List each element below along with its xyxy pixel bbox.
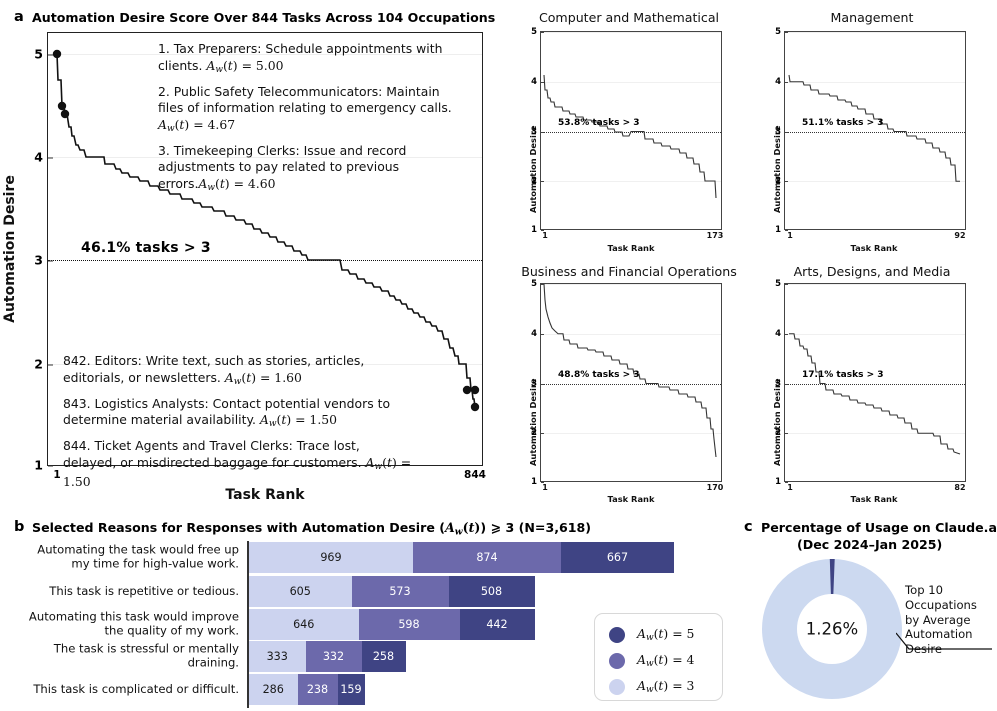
subplot-3-xtick-start: 1 [542,483,548,492]
panel-c-title-line2: (Dec 2024–Jan 2025) [797,537,942,552]
subplot-2-xtick-end: 92 [954,231,965,240]
panel-a-title: Automation Desire Score Over 844 Tasks A… [32,10,495,25]
bar-segment-a3-row1: 605 [249,576,352,607]
subplot-3-curve [541,284,722,482]
subplot-1-ytick-2: 2 [531,176,537,186]
panel-a-xtick-start: 1 [53,469,60,481]
subplot-3-ytick-5: 5 [531,279,537,289]
subplot-3-ytick-3: 3 [531,379,537,389]
bar-segment-a5-row1: 508 [449,576,535,607]
legend-swatch-icon-a4 [609,653,625,669]
subplot-4-xtick-start: 1 [787,483,793,492]
subplot-4-ytick-4: 4 [775,329,781,339]
bar-segment-a5-row4: 159 [338,674,365,705]
bar-segment-a5-row3: 258 [362,641,406,672]
subplot-4-curve [785,284,966,482]
subplot-4-xtick-end: 82 [954,483,965,492]
subplot-3-ytick-1: 1 [531,477,537,487]
subplot-title-arts-designs-and-media: Arts, Designs, and Media [794,264,951,279]
subplot-4-x-label: Task Rank [851,494,898,504]
panel-b-title: Selected Reasons for Responses with Auto… [32,520,591,537]
panel-a-top-tasks-annotation: 1. Tax Preparers: Schedule appointments … [158,41,460,202]
subplot-4-y-label: Automation Desire [772,378,782,466]
bottom-task-843: 843. Logistics Analysts: Contact potenti… [63,396,415,432]
subplot-2-x-label: Task Rank [851,243,898,253]
table-row: 605 573 508 [249,576,535,607]
bar-segment-a3-row2: 646 [249,609,359,640]
table-row: 286 238 159 [249,674,365,705]
subplot-management: 5 4 3 2 1 1 92 51.1% tasks > 3 [784,31,966,230]
panel-a-xtick-end: 844 [464,469,486,481]
panel-b-legend: Aw(t) = 5 Aw(t) = 4 Aw(t) = 3 [594,613,723,701]
subplot-2-y-label: Automation Desire [772,125,782,213]
panel-a-ytick-1: 1 [34,458,43,473]
subplot-1-ytick-5: 5 [531,27,537,37]
bar-label-4: This task is complicated or difficult. [19,682,239,696]
subplot-2-ytick-1: 1 [775,225,781,235]
subplot-1-x-label: Task Rank [608,243,655,253]
panel-c-callout-label: Top 10 Occupations by Average Automation… [905,583,991,657]
legend-label-a4: Aw(t) = 4 [637,652,694,669]
subplot-2-ytick-5: 5 [775,27,781,37]
subplot-4-ytick-5: 5 [775,279,781,289]
bottom-task-842: 842. Editors: Write text, such as storie… [63,353,415,389]
legend-label-a3: Aw(t) = 3 [637,678,694,695]
panel-c-donut-chart: 1.26% [762,559,902,699]
bar-label-1: This task is repetitive or tedious. [19,584,239,598]
subplot-1-ytick-4: 4 [531,77,537,87]
table-row: 969 874 667 [249,542,674,573]
subplot-4-threshold-label: 17.1% tasks > 3 [802,370,884,380]
subplot-3-y-label: Automation Desire [528,378,538,466]
subplot-computer-and-mathematical: 5 4 3 2 1 1 173 53.8% tasks > 3 [540,31,722,230]
panel-a-ytick-5: 5 [34,47,43,62]
panel-c-letter: c [744,519,753,535]
bar-segment-a4-row1: 573 [352,576,449,607]
subplot-1-ytick-1: 1 [531,225,537,235]
top-task-3: 3. Timekeeping Clerks: Issue and record … [158,143,460,195]
bar-segment-a4-row2: 598 [359,609,460,640]
legend-item-a5: Aw(t) = 5 [595,622,722,648]
subplot-3-ytick-2: 2 [531,428,537,438]
subplot-title-management: Management [831,10,914,25]
subplot-1-curve [541,32,722,230]
subplot-3-threshold-label: 48.8% tasks > 3 [558,370,640,380]
bar-label-3: The task is stressful or mentally draini… [19,642,239,671]
panel-a-letter: a [14,9,24,25]
subplot-3-ytick-4: 4 [531,329,537,339]
subplot-2-ytick-2: 2 [775,176,781,186]
top-task-2: 2. Public Safety Telecommunicators: Main… [158,84,460,136]
legend-item-a3: Aw(t) = 3 [595,674,722,700]
subplot-2-ytick-4: 4 [775,77,781,87]
subplot-2-xtick-start: 1 [787,231,793,240]
legend-swatch-icon-a5 [609,627,625,643]
bar-segment-a4-row3: 332 [306,641,362,672]
subplot-3-x-label: Task Rank [608,494,655,504]
subplot-1-xtick-end: 173 [707,231,724,240]
panel-a-ytick-4: 4 [34,150,43,165]
bar-segment-a3-row0: 969 [249,542,413,573]
subplot-1-threshold-label: 53.8% tasks > 3 [558,118,640,128]
panel-a-bottom-tasks-annotation: 842. Editors: Write text, such as storie… [63,353,415,497]
bar-label-2: Automating this task would improve the q… [19,610,239,639]
subplot-4-ytick-3: 3 [775,379,781,389]
legend-item-a4: Aw(t) = 4 [595,648,722,674]
panel-b-letter: b [14,519,24,535]
subplot-2-threshold-label: 51.1% tasks > 3 [802,118,884,128]
table-row: 646 598 442 [249,609,535,640]
subplot-2-curve [785,32,966,230]
subplot-1-xtick-start: 1 [542,231,548,240]
legend-label-a5: Aw(t) = 5 [637,626,694,643]
bar-segment-a5-row0: 667 [561,542,674,573]
panel-a-plot-area: 5 4 3 2 1 1 844 46.1% tasks > 3 1. Tax P… [47,32,483,466]
subplot-arts-designs-and-media: 5 4 3 2 1 1 82 17.1% tasks > 3 [784,283,966,482]
panel-c-title-line1: Percentage of Usage on Claude.ai [761,520,997,535]
subplot-title-business-and-financial-operations: Business and Financial Operations [521,264,737,279]
subplot-2-ytick-3: 3 [775,127,781,137]
subplot-4-ytick-1: 1 [775,477,781,487]
bar-segment-a4-row4: 238 [298,674,338,705]
top-task-1: 1. Tax Preparers: Schedule appointments … [158,41,460,77]
panel-a-y-axis-label: Automation Desire [2,175,18,323]
subplot-title-computer-and-mathematical: Computer and Mathematical [539,10,719,25]
subplot-1-y-label: Automation Desire [528,125,538,213]
panel-a-threshold-label: 46.1% tasks > 3 [81,240,211,256]
subplot-3-xtick-end: 170 [707,483,724,492]
subplot-4-ytick-2: 2 [775,428,781,438]
subplot-1-ytick-3: 3 [531,127,537,137]
bar-label-0: Automating the task would free up my tim… [19,543,239,572]
subplot-business-and-financial-operations: 5 4 3 2 1 1 170 48.8% tasks > 3 [540,283,722,482]
bar-segment-a3-row3: 333 [249,641,306,672]
bar-segment-a5-row2: 442 [460,609,535,640]
donut-center-value: 1.26% [806,620,858,639]
bar-segment-a3-row4: 286 [249,674,298,705]
panel-a-ytick-3: 3 [34,253,43,268]
panel-a-ytick-2: 2 [34,357,43,372]
bottom-task-844: 844. Ticket Agents and Travel Clerks: Tr… [63,438,415,490]
bar-segment-a4-row0: 874 [413,542,561,573]
legend-swatch-icon-a3 [609,679,625,695]
table-row: 333 332 258 [249,641,406,672]
